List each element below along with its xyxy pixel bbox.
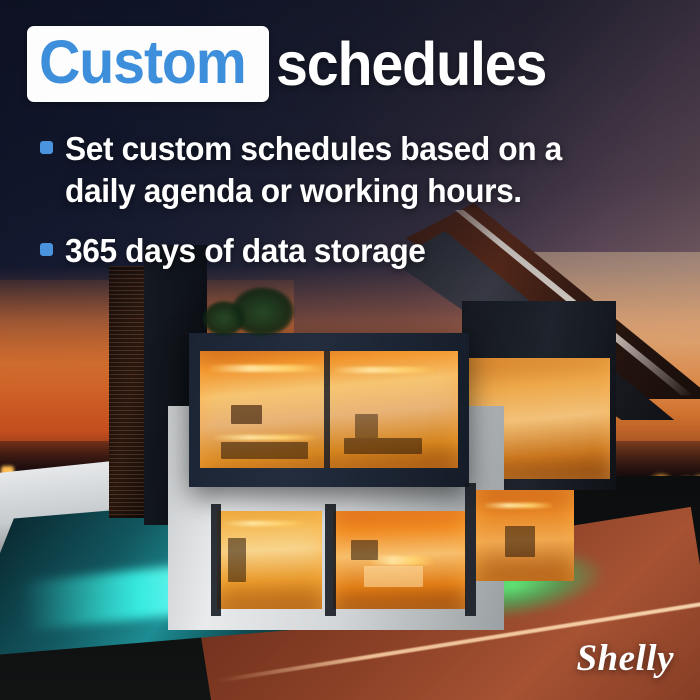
bullet-text: Set custom schedules based on a daily ag… <box>65 128 636 212</box>
headline: Custom schedules <box>27 26 563 102</box>
bullet-text: 365 days of data storage <box>65 230 426 272</box>
headline-accent-box: Custom <box>27 26 269 102</box>
promo-poster: Custom schedules Set custom schedules ba… <box>0 0 700 700</box>
list-item: 365 days of data storage <box>40 230 660 272</box>
list-item: Set custom schedules based on a daily ag… <box>40 128 660 212</box>
brand-logo: Shelly <box>576 637 674 680</box>
bullet-list: Set custom schedules based on a daily ag… <box>40 128 660 291</box>
headline-accent-word: Custom <box>39 32 246 93</box>
square-bullet-icon <box>40 141 53 154</box>
text-overlay: Custom schedules Set custom schedules ba… <box>0 0 700 700</box>
square-bullet-icon <box>40 243 53 256</box>
headline-rest-word: schedules <box>276 34 546 95</box>
